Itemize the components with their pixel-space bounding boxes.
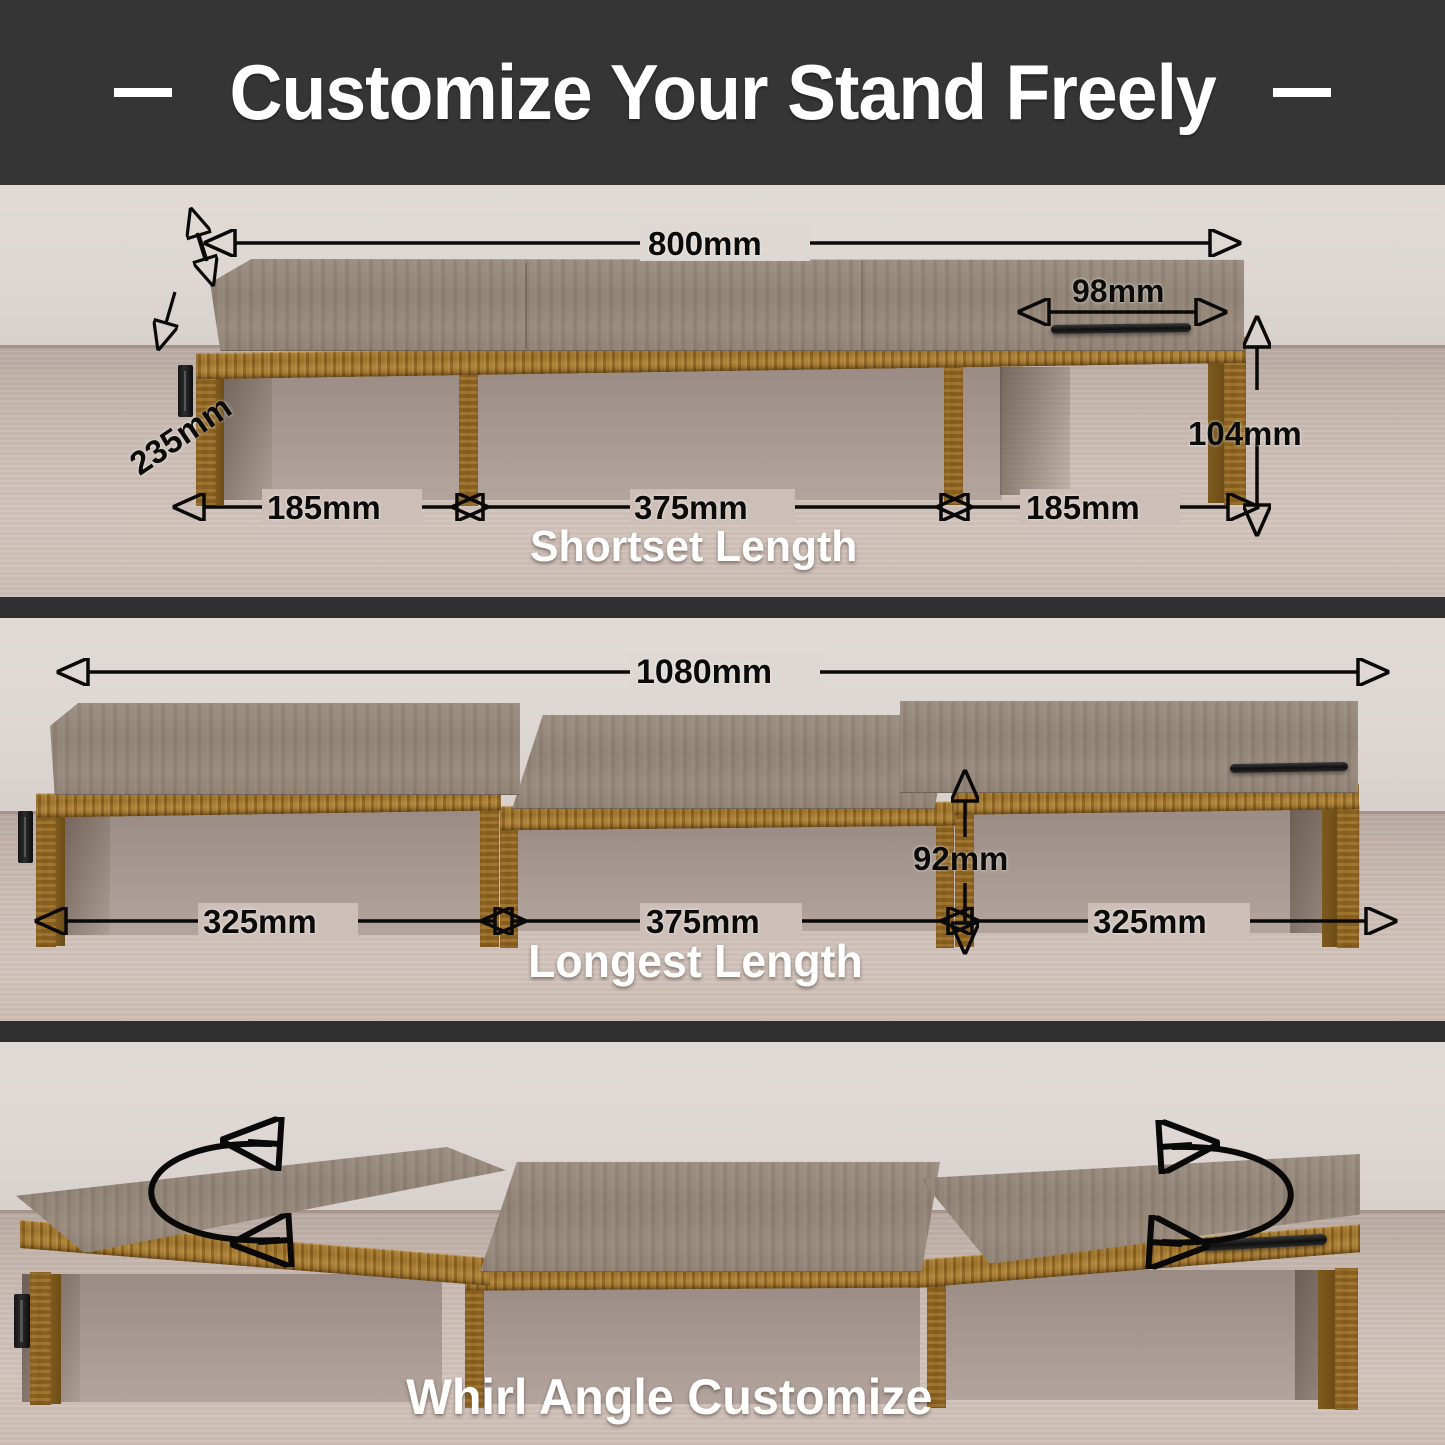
- dim-center-span-1: 375mm: [634, 491, 748, 524]
- dim-right-span-2: 325mm: [1093, 905, 1207, 938]
- panel-whirl-angle: Whirl Angle Customize: [0, 1042, 1445, 1445]
- panel-caption-1: Shortset Length: [530, 525, 857, 569]
- header-banner: Customize Your Stand Freely: [0, 0, 1445, 185]
- panel-separator-2: [0, 1021, 1445, 1042]
- dim-center-span-2: 375mm: [646, 905, 760, 938]
- dim-left-span-1: 185mm: [267, 491, 381, 524]
- dim-slot-width-1: 98mm: [1072, 275, 1165, 307]
- dim-height-2: 92mm: [913, 842, 1008, 875]
- dim-left-span-2: 325mm: [203, 905, 317, 938]
- left-dash-icon: [114, 88, 172, 97]
- dim-total-width-1: 800mm: [648, 227, 762, 260]
- panel-caption-3: Whirl Angle Customize: [406, 1372, 932, 1422]
- dim-right-span-1: 185mm: [1026, 491, 1140, 524]
- dim-total-width-2: 1080mm: [636, 655, 772, 689]
- panel-longest-length: 1080mm 92mm 325mm 375mm 325mm Longest Le…: [0, 615, 1445, 1021]
- dim-height-1: 104mm: [1188, 417, 1302, 450]
- panel-separator-1: [0, 597, 1445, 618]
- page-title: Customize Your Stand Freely: [229, 47, 1215, 138]
- panel-caption-2: Longest Length: [528, 938, 863, 984]
- panel-shortest-length: 800mm 98mm 235mm 104mm 185mm 375mm 185mm…: [0, 185, 1445, 597]
- right-dash-icon: [1273, 88, 1331, 97]
